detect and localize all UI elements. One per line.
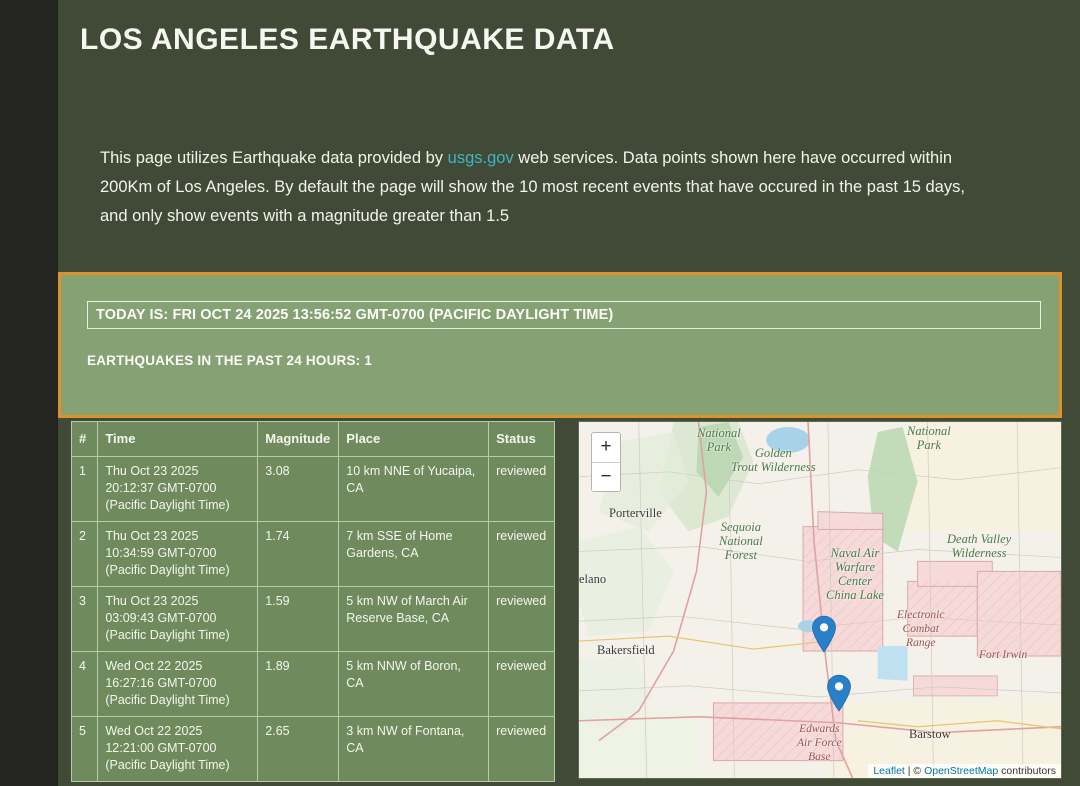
- table-row[interactable]: 4Wed Oct 22 2025 16:27:16 GMT-0700 (Paci…: [72, 652, 555, 717]
- cell-place: 5 km NNW of Boron, CA: [339, 652, 489, 717]
- cell-number: 4: [72, 652, 98, 717]
- cell-status: reviewed: [489, 587, 555, 652]
- cell-time: Thu Oct 23 2025 10:34:59 GMT-0700 (Pacif…: [98, 522, 258, 587]
- cell-place: 10 km NNE of Yucaipa, CA: [339, 457, 489, 522]
- cell-magnitude: 1.74: [258, 522, 339, 587]
- column-header-status[interactable]: Status: [489, 422, 555, 457]
- cell-place: 5 km NW of March Air Reserve Base, CA: [339, 587, 489, 652]
- table-row[interactable]: 5Wed Oct 22 2025 12:21:00 GMT-0700 (Paci…: [72, 717, 555, 782]
- content-container: LOS ANGELES EARTHQUAKE DATA This page ut…: [58, 0, 1080, 786]
- table-head: # Time Magnitude Place Status: [72, 422, 555, 457]
- cell-status: reviewed: [489, 717, 555, 782]
- intro-paragraph: This page utilizes Earthquake data provi…: [58, 58, 1018, 231]
- cell-magnitude: 3.08: [258, 457, 339, 522]
- cell-number: 3: [72, 587, 98, 652]
- zoom-in-button[interactable]: +: [592, 433, 620, 462]
- leaflet-link[interactable]: Leaflet: [873, 765, 905, 777]
- intro-text-before: This page utilizes Earthquake data provi…: [100, 149, 448, 167]
- cell-time: Wed Oct 22 2025 12:21:00 GMT-0700 (Pacif…: [98, 717, 258, 782]
- usgs-link[interactable]: usgs.gov: [448, 149, 514, 167]
- map-marker-pin-icon[interactable]: [826, 674, 852, 712]
- cell-number: 2: [72, 522, 98, 587]
- map-marker-pin-icon[interactable]: [811, 615, 837, 653]
- cell-number: 5: [72, 717, 98, 782]
- cell-magnitude: 1.89: [258, 652, 339, 717]
- zoom-out-button[interactable]: −: [592, 462, 620, 491]
- info-panel: TODAY IS: FRI OCT 24 2025 13:56:52 GMT-0…: [58, 272, 1062, 418]
- map-zoom-control[interactable]: + −: [591, 432, 621, 492]
- attribution-separator: | ©: [905, 765, 924, 777]
- column-header-time[interactable]: Time: [98, 422, 258, 457]
- page-root: LOS ANGELES EARTHQUAKE DATA This page ut…: [0, 0, 1080, 786]
- page-title: LOS ANGELES EARTHQUAKE DATA: [58, 0, 1080, 58]
- cell-place: 7 km SSE of Home Gardens, CA: [339, 522, 489, 587]
- attribution-suffix: contributors: [998, 765, 1056, 777]
- earthquake-map[interactable]: + − National ParkGolden Trout Wilderness…: [578, 421, 1062, 779]
- earthquake-table: # Time Magnitude Place Status 1Thu Oct 2…: [71, 421, 555, 782]
- cell-time: Thu Oct 23 2025 03:09:43 GMT-0700 (Pacif…: [98, 587, 258, 652]
- cell-place: 3 km NW of Fontana, CA: [339, 717, 489, 782]
- cell-number: 1: [72, 457, 98, 522]
- table-header-row: # Time Magnitude Place Status: [72, 422, 555, 457]
- column-header-place[interactable]: Place: [339, 422, 489, 457]
- table-row[interactable]: 2Thu Oct 23 2025 10:34:59 GMT-0700 (Paci…: [72, 522, 555, 587]
- today-box: TODAY IS: FRI OCT 24 2025 13:56:52 GMT-0…: [87, 301, 1041, 329]
- column-header-magnitude[interactable]: Magnitude: [258, 422, 339, 457]
- table-row[interactable]: 1Thu Oct 23 2025 20:12:37 GMT-0700 (Paci…: [72, 457, 555, 522]
- cell-status: reviewed: [489, 522, 555, 587]
- map-tiles: [579, 422, 1061, 779]
- cell-status: reviewed: [489, 652, 555, 717]
- past-24-hours-count: EARTHQUAKES IN THE PAST 24 HOURS: 1: [87, 353, 372, 368]
- cell-status: reviewed: [489, 457, 555, 522]
- openstreetmap-link[interactable]: OpenStreetMap: [924, 765, 998, 777]
- cell-time: Thu Oct 23 2025 20:12:37 GMT-0700 (Pacif…: [98, 457, 258, 522]
- column-header-number[interactable]: #: [72, 422, 98, 457]
- today-label: TODAY IS: FRI OCT 24 2025 13:56:52 GMT-0…: [96, 307, 613, 323]
- table-body: 1Thu Oct 23 2025 20:12:37 GMT-0700 (Paci…: [72, 457, 555, 782]
- cell-magnitude: 1.59: [258, 587, 339, 652]
- cell-magnitude: 2.65: [258, 717, 339, 782]
- map-attribution: Leaflet | © OpenStreetMap contributors: [868, 764, 1061, 778]
- table-row[interactable]: 3Thu Oct 23 2025 03:09:43 GMT-0700 (Paci…: [72, 587, 555, 652]
- cell-time: Wed Oct 22 2025 16:27:16 GMT-0700 (Pacif…: [98, 652, 258, 717]
